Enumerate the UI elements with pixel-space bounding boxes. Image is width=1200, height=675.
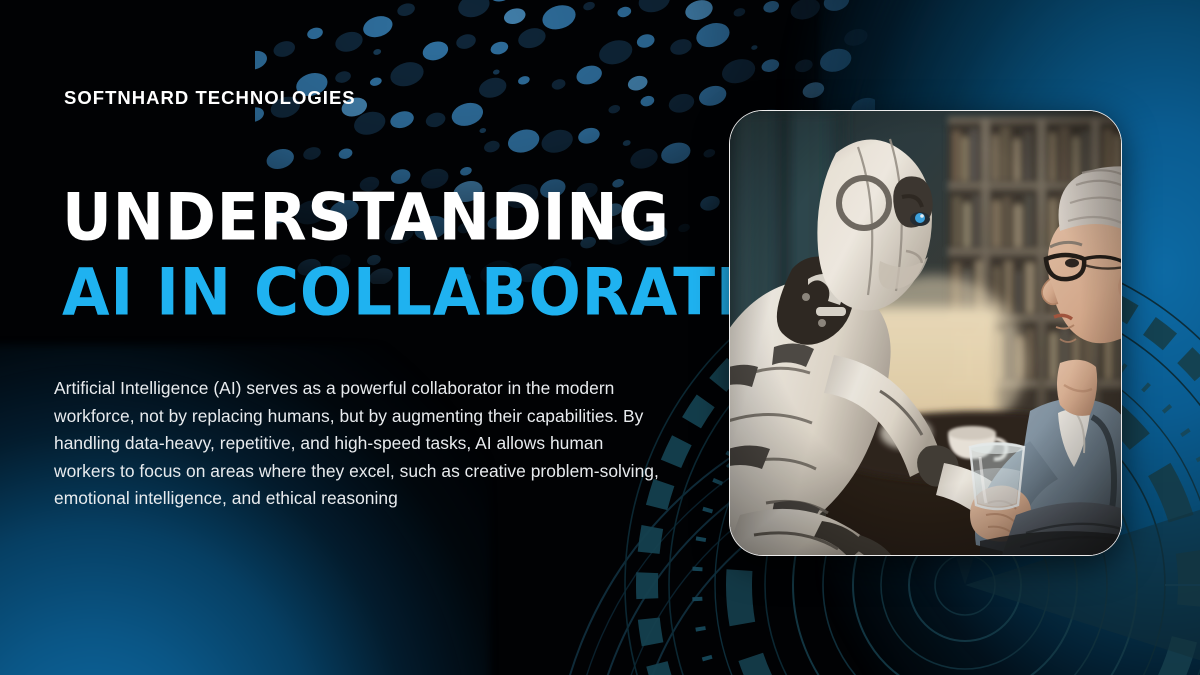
brand-name: SOFTNHARD TECHNOLOGIES	[64, 87, 356, 109]
robot-and-elderly-woman-photo	[730, 111, 1121, 555]
body-paragraph: Artificial Intelligence (AI) serves as a…	[54, 375, 664, 513]
headline-line-2: AI IN COLLABORATION	[62, 263, 740, 323]
headline-block: UNDERSTANDING AI IN COLLABORATION	[62, 188, 702, 317]
photo-card	[729, 110, 1122, 556]
headline-line-1: UNDERSTANDING	[62, 188, 740, 248]
presentation-slide: SOFTNHARD TECHNOLOGIES UNDERSTANDING AI …	[0, 0, 1200, 675]
text-column: SOFTNHARD TECHNOLOGIES UNDERSTANDING AI …	[0, 0, 700, 675]
